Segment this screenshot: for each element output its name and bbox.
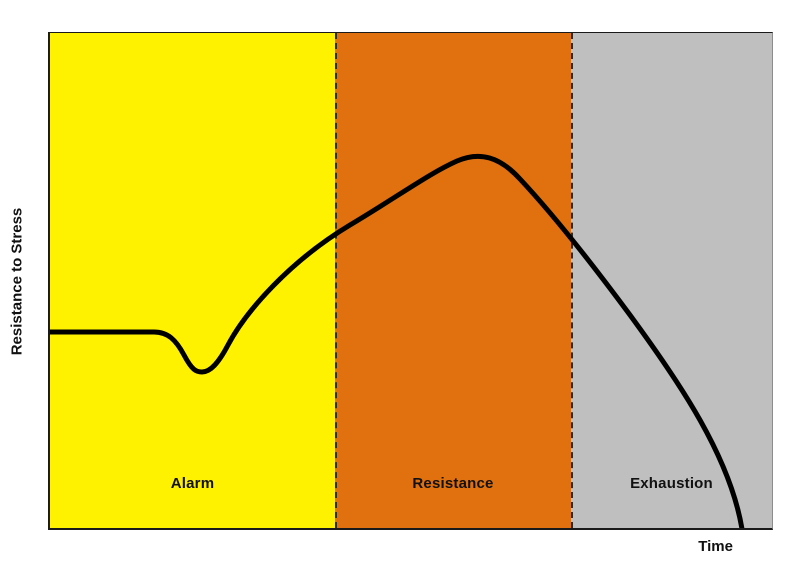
y-axis-label: Resistance to Stress xyxy=(0,32,34,530)
plot-area: Alarm Resistance Exhaustion xyxy=(48,32,773,530)
resistance-curve-path xyxy=(50,156,742,529)
resistance-curve xyxy=(50,33,773,530)
stress-response-chart: Alarm Resistance Exhaustion Resistance t… xyxy=(0,0,800,583)
x-axis-label: Time xyxy=(0,538,773,555)
y-axis-label-text: Resistance to Stress xyxy=(9,207,26,355)
